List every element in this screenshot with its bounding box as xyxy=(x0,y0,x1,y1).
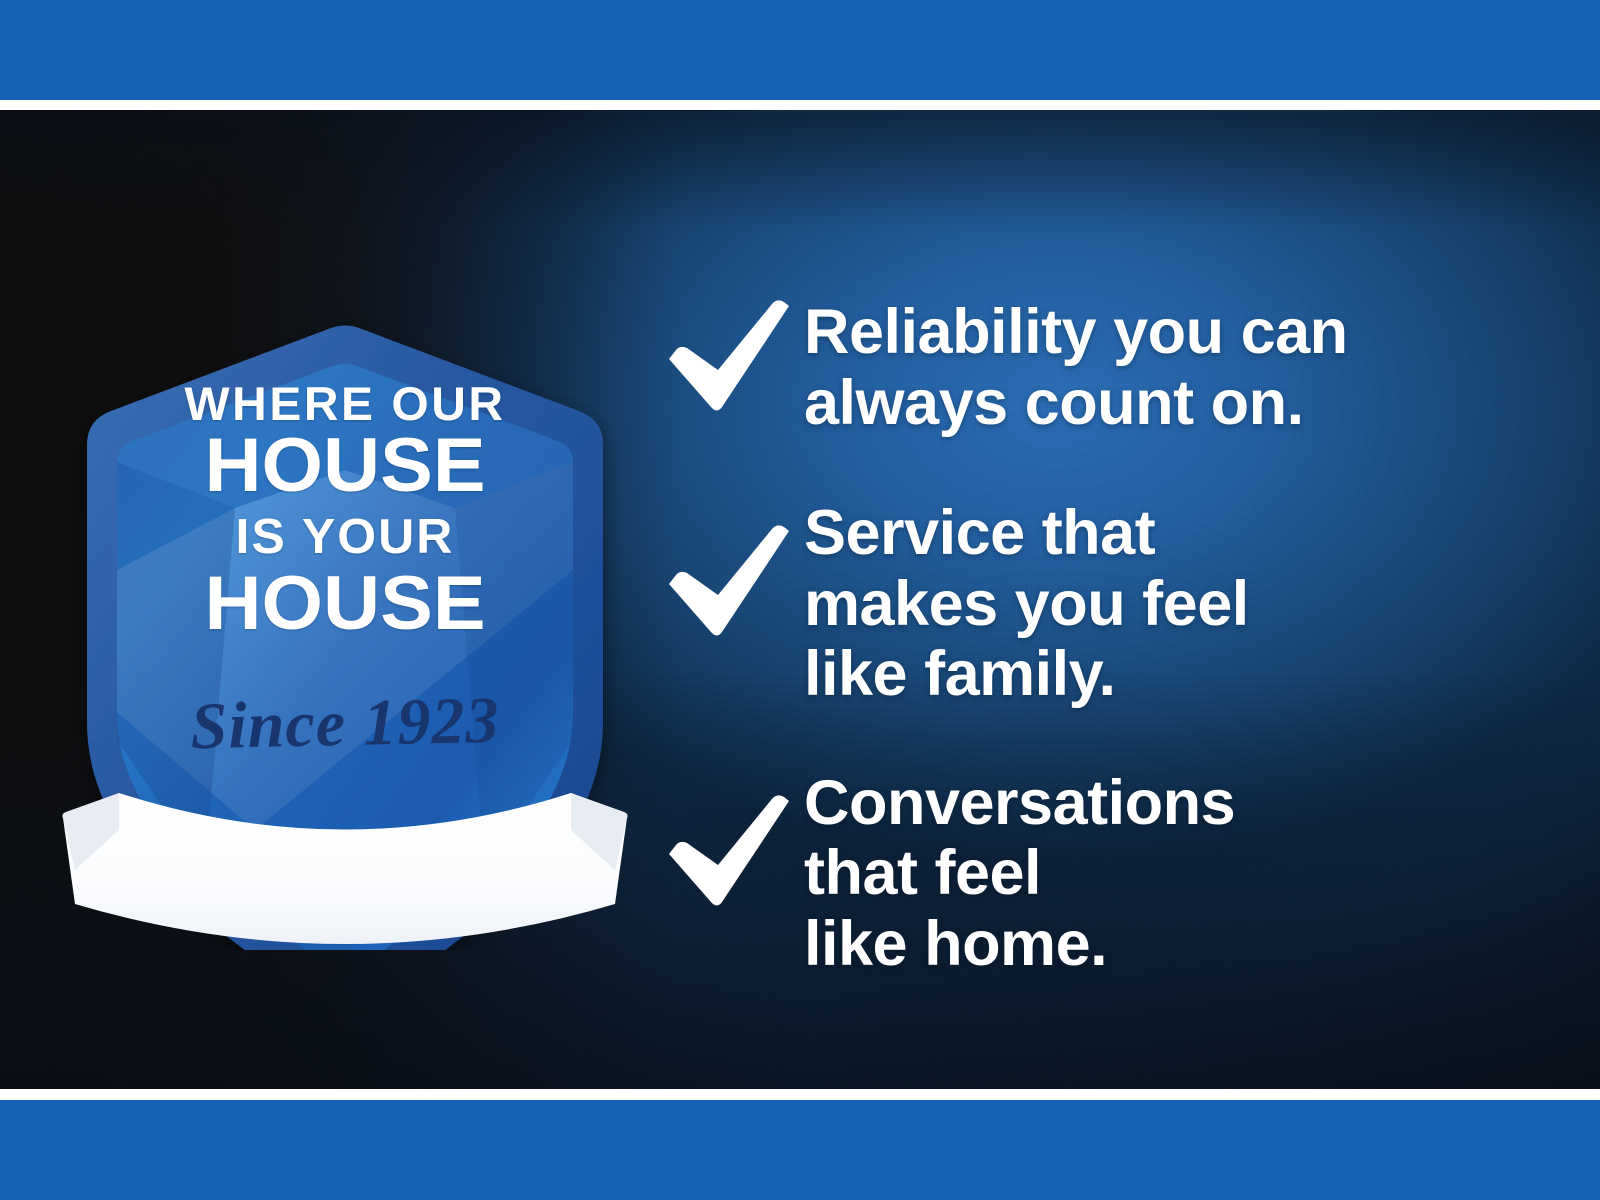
benefit-text: Conversations that feel like home. xyxy=(804,766,1235,980)
benefit-line: Conversations xyxy=(804,768,1235,839)
benefit-item: Reliability you can always count on. xyxy=(660,295,1560,438)
benefit-line: like family. xyxy=(804,639,1249,710)
benefit-line: makes you feel xyxy=(804,569,1249,640)
bottom-brand-bar xyxy=(0,1100,1600,1200)
checkmark-icon xyxy=(660,522,790,640)
checkmark-icon xyxy=(660,297,790,415)
main-stage: WHERE OUR HOUSE IS YOUR HOUSE Since 1923… xyxy=(0,110,1600,1089)
benefit-line: that feel xyxy=(804,838,1235,909)
benefit-item: Conversations that feel like home. xyxy=(660,766,1560,980)
benefits-list: Reliability you can always count on. Ser… xyxy=(660,295,1560,979)
bottom-white-divider xyxy=(0,1089,1600,1100)
top-white-divider xyxy=(0,100,1600,110)
benefit-line: like home. xyxy=(804,909,1235,980)
benefit-text: Reliability you can always count on. xyxy=(804,295,1348,438)
shield-logo: WHERE OUR HOUSE IS YOUR HOUSE Since 1923 xyxy=(55,270,635,950)
promo-poster: WHERE OUR HOUSE IS YOUR HOUSE Since 1923… xyxy=(0,0,1600,1200)
benefit-line: Service that xyxy=(804,498,1249,569)
benefit-item: Service that makes you feel like family. xyxy=(660,496,1560,710)
background-top-shade xyxy=(0,110,1600,230)
top-brand-bar xyxy=(0,0,1600,100)
benefit-text: Service that makes you feel like family. xyxy=(804,496,1249,710)
benefit-line: always count on. xyxy=(804,368,1348,439)
checkmark-icon xyxy=(660,792,790,910)
benefit-line: Reliability you can xyxy=(804,297,1348,368)
shield-graphic xyxy=(55,270,635,950)
